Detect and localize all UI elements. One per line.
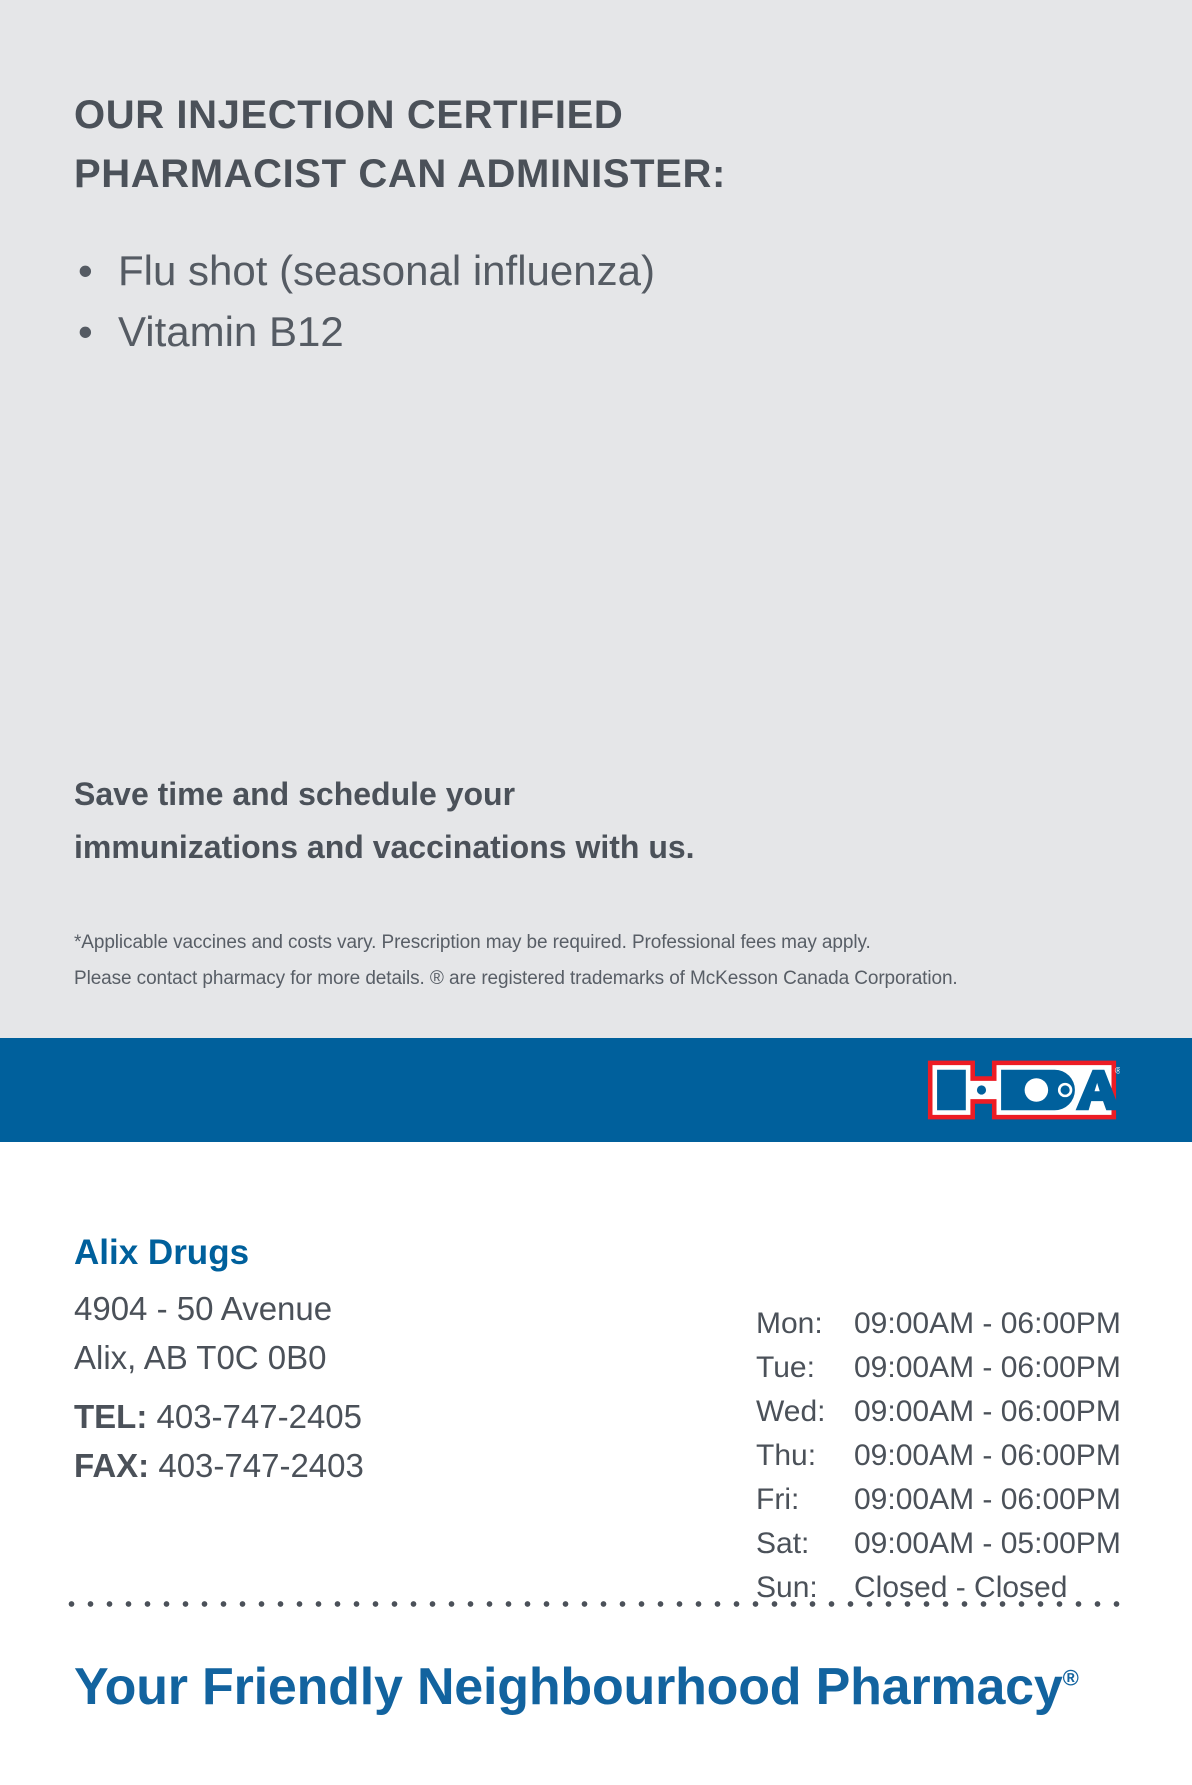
promo-headline-line-2: PHARMACIST CAN ADMINISTER: — [74, 145, 894, 204]
hours-time: 09:00AM - 06:00PM — [854, 1346, 1121, 1390]
table-row: Mon: 09:00AM - 06:00PM — [756, 1302, 1121, 1346]
table-row: Fri: 09:00AM - 06:00PM — [756, 1478, 1121, 1522]
promo-panel: OUR INJECTION CERTIFIED PHARMACIST CAN A… — [0, 0, 1192, 1038]
store-name: Alix Drugs — [74, 1232, 249, 1274]
hours-time: 09:00AM - 06:00PM — [854, 1390, 1121, 1434]
hours-time: 09:00AM - 06:00PM — [854, 1478, 1121, 1522]
ida-logo: ® — [924, 1054, 1120, 1126]
hours-time: 09:00AM - 05:00PM — [854, 1522, 1121, 1566]
list-item: • Vitamin B12 — [74, 301, 934, 362]
promo-subheadline-line-1: Save time and schedule your — [74, 768, 904, 821]
table-row: Wed: 09:00AM - 06:00PM — [756, 1390, 1121, 1434]
promo-headline-line-1: OUR INJECTION CERTIFIED — [74, 86, 894, 145]
promo-subheadline: Save time and schedule your immunization… — [74, 768, 904, 874]
telephone-label: TEL: — [74, 1398, 147, 1435]
disclaimer-line-2: Please contact pharmacy for more details… — [74, 961, 1129, 997]
fax-line: FAX: 403-747-2403 — [74, 1441, 364, 1490]
hours-day: Fri: — [756, 1478, 854, 1522]
bullet-icon: • — [78, 240, 93, 301]
registered-trademark-icon: ® — [1063, 1666, 1079, 1691]
promo-subheadline-line-2: immunizations and vaccinations with us. — [74, 821, 904, 874]
service-label: Vitamin B12 — [118, 308, 344, 355]
disclaimer-line-1: *Applicable vaccines and costs vary. Pre… — [74, 925, 1129, 961]
hours-day: Mon: — [756, 1302, 854, 1346]
store-address: 4904 - 50 Avenue Alix, AB T0C 0B0 — [74, 1284, 332, 1382]
hours-day: Tue: — [756, 1346, 854, 1390]
promo-headline: OUR INJECTION CERTIFIED PHARMACIST CAN A… — [74, 86, 894, 204]
tagline-text: Your Friendly Neighbourhood Pharmacy — [74, 1658, 1063, 1716]
table-row: Sat: 09:00AM - 05:00PM — [756, 1522, 1121, 1566]
table-row: Thu: 09:00AM - 06:00PM — [756, 1434, 1121, 1478]
svg-text:®: ® — [1115, 1066, 1120, 1076]
address-line-2: Alix, AB T0C 0B0 — [74, 1333, 332, 1382]
hours-day: Wed: — [756, 1390, 854, 1434]
service-label: Flu shot (seasonal influenza) — [118, 247, 655, 294]
fax-value: 403-747-2403 — [158, 1447, 364, 1484]
disclaimer-text: *Applicable vaccines and costs vary. Pre… — [74, 925, 1129, 997]
list-item: • Flu shot (seasonal influenza) — [74, 240, 934, 301]
address-line-1: 4904 - 50 Avenue — [74, 1284, 332, 1333]
bullet-icon: • — [78, 301, 93, 362]
tagline: Your Friendly Neighbourhood Pharmacy® — [74, 1655, 1079, 1719]
store-contact: TEL: 403-747-2405 FAX: 403-747-2403 — [74, 1392, 364, 1490]
hours-day: Thu: — [756, 1434, 854, 1478]
store-info-section: Alix Drugs 4904 - 50 Avenue Alix, AB T0C… — [0, 1142, 1192, 1785]
telephone-line: TEL: 403-747-2405 — [74, 1392, 364, 1441]
hours-time: 09:00AM - 06:00PM — [854, 1302, 1121, 1346]
hours-time: 09:00AM - 06:00PM — [854, 1434, 1121, 1478]
services-list: • Flu shot (seasonal influenza) • Vitami… — [74, 240, 934, 362]
hours-day: Sat: — [756, 1522, 854, 1566]
table-row: Tue: 09:00AM - 06:00PM — [756, 1346, 1121, 1390]
telephone-value[interactable]: 403-747-2405 — [157, 1398, 363, 1435]
store-hours-table: Mon: 09:00AM - 06:00PM Tue: 09:00AM - 06… — [756, 1302, 1121, 1610]
brand-band: ® — [0, 1038, 1192, 1142]
fax-label: FAX: — [74, 1447, 149, 1484]
dotted-divider — [62, 1600, 1122, 1608]
